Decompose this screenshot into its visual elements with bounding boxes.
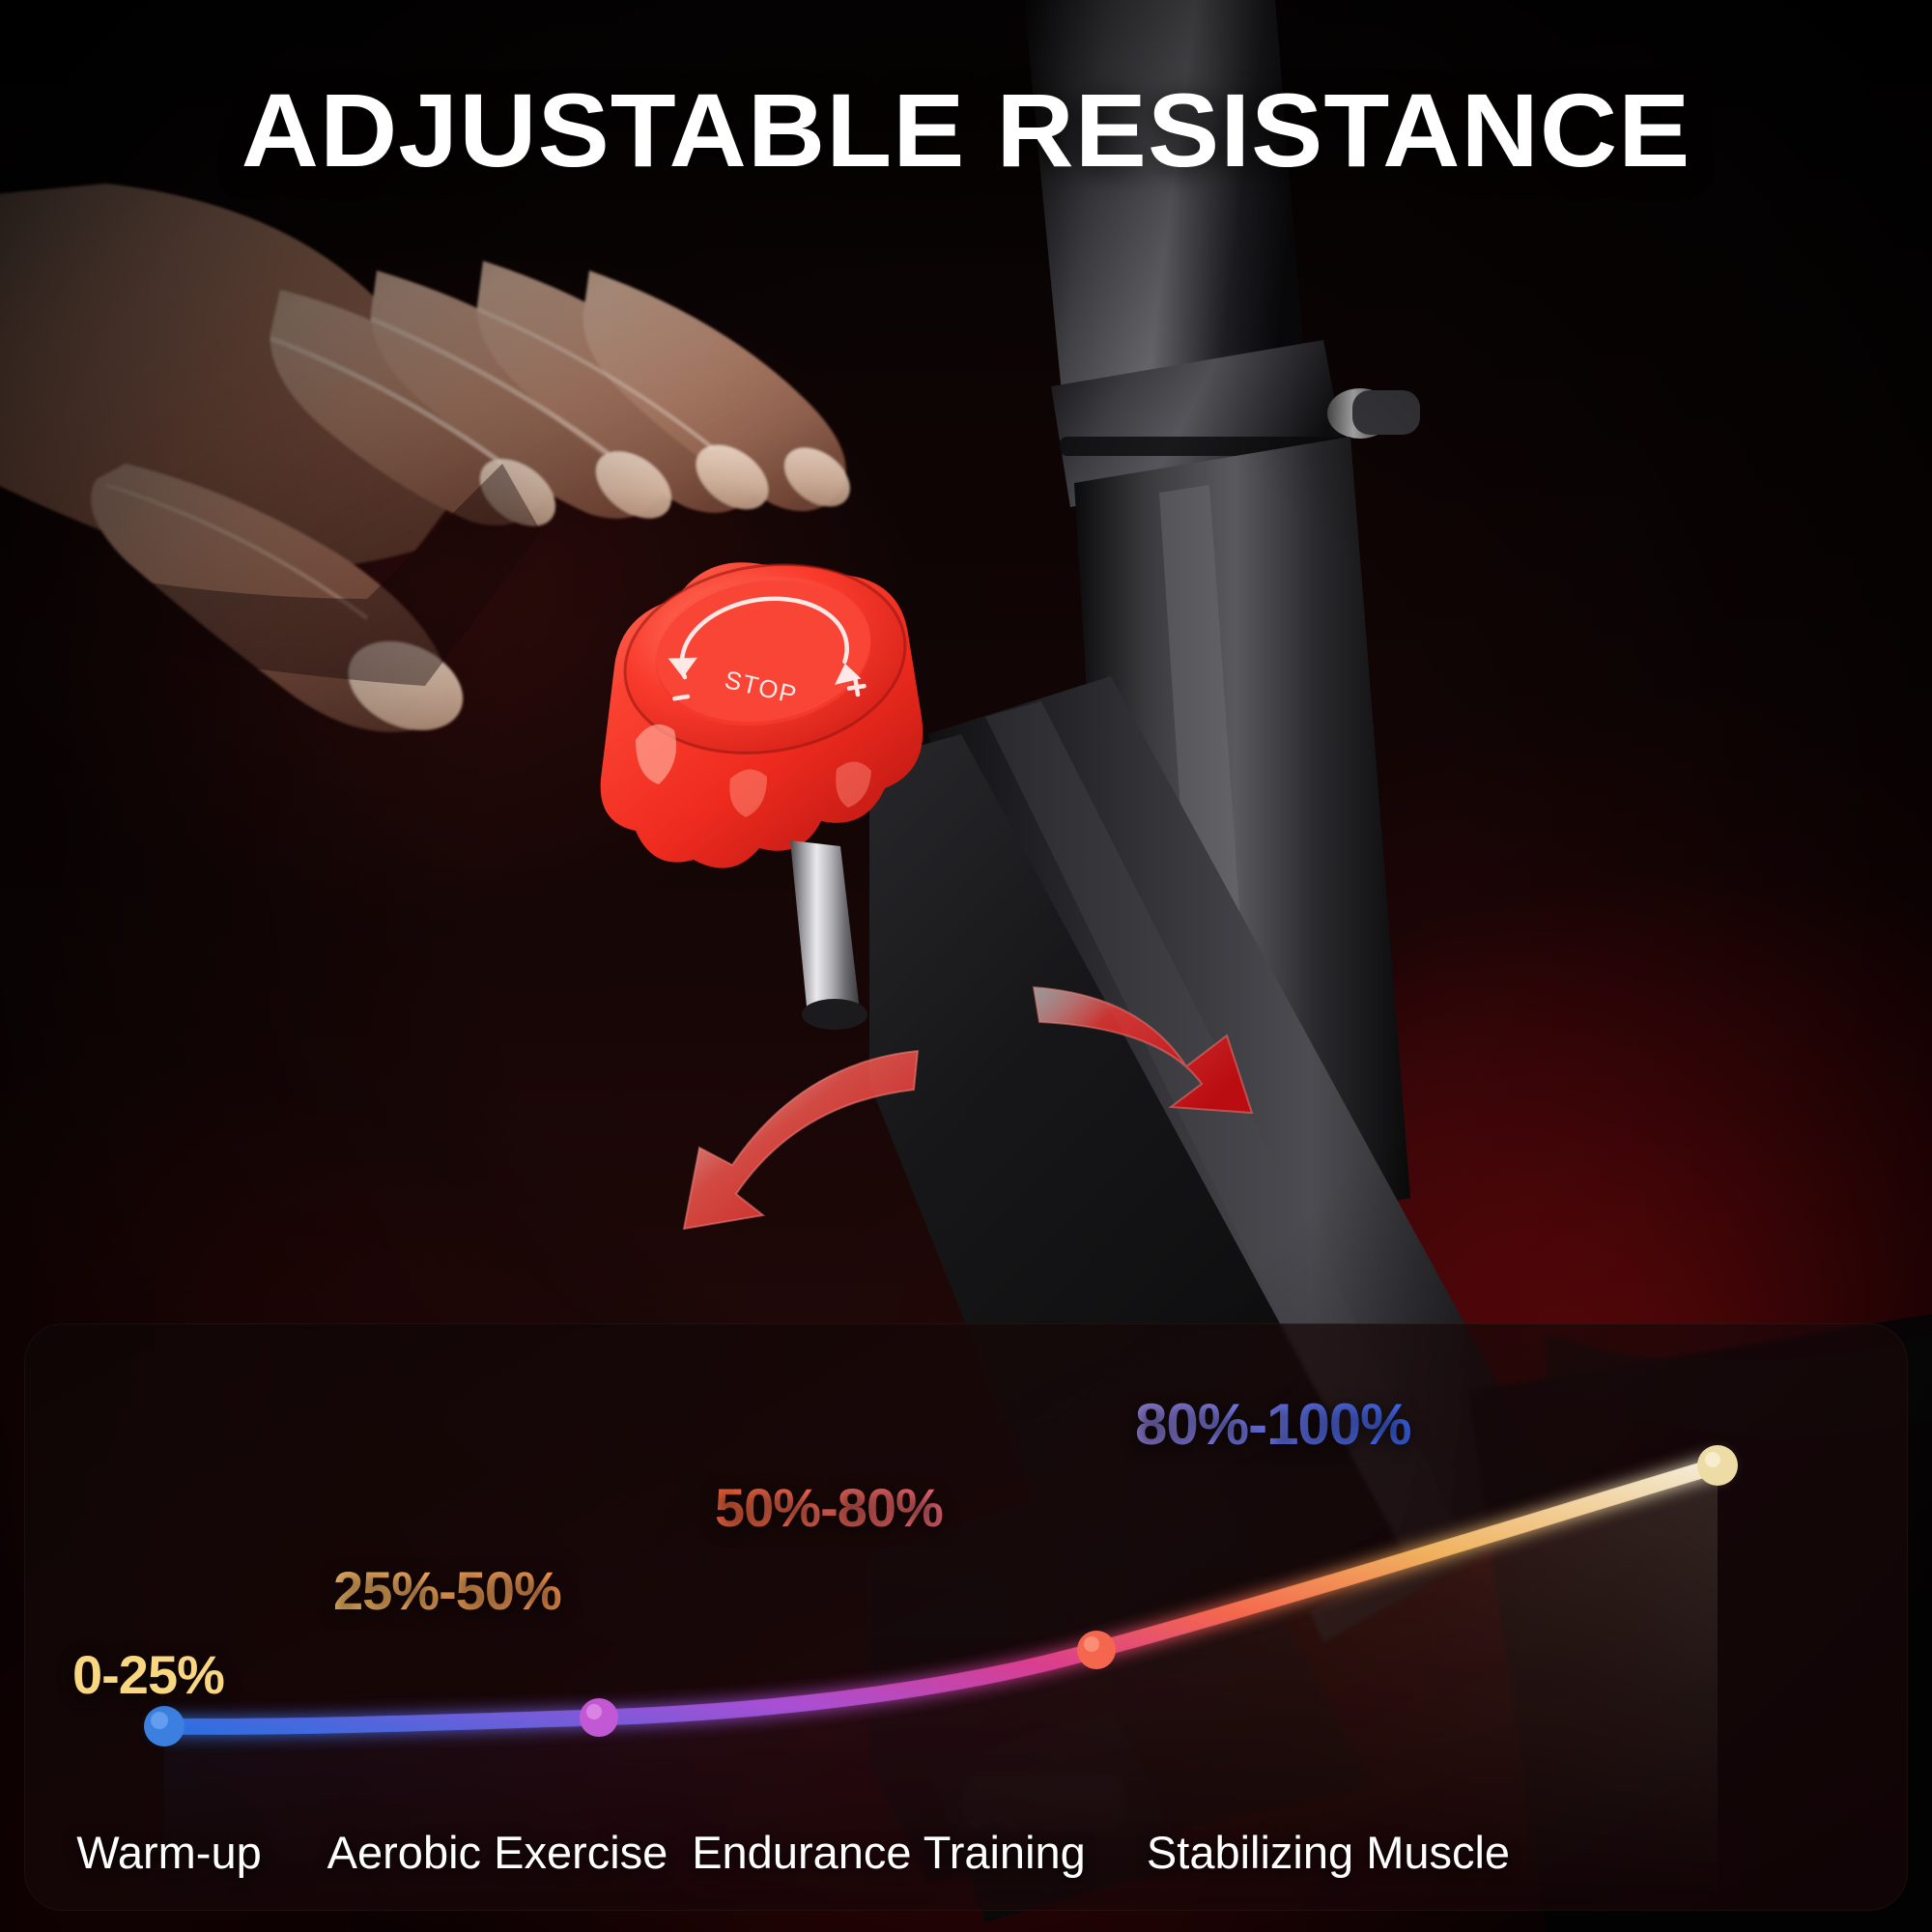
category-label-stabilizing-muscle: Stabilizing Muscle: [1096, 1826, 1560, 1879]
category-label-aerobic-exercise: Aerobic Exercise: [314, 1826, 681, 1879]
category-label-warm-up: Warm-up: [24, 1826, 314, 1879]
resistance-chart-panel: [24, 1323, 1908, 1911]
page-title: ADJUSTABLE RESISTANCE: [0, 70, 1932, 190]
chart-label-2: 50%-80%: [715, 1476, 943, 1539]
resistance-line-chart: [24, 1323, 1908, 1911]
product-infographic: STOP: [0, 0, 1932, 1932]
chart-category-labels: Warm-up Aerobic Exercise Endurance Train…: [24, 1826, 1908, 1893]
chart-label-0: 0-25%: [72, 1643, 224, 1706]
chart-label-1: 25%-50%: [333, 1559, 561, 1622]
chart-label-3: 80%-100%: [1135, 1391, 1411, 1458]
category-label-endurance-training: Endurance Training: [681, 1826, 1096, 1879]
